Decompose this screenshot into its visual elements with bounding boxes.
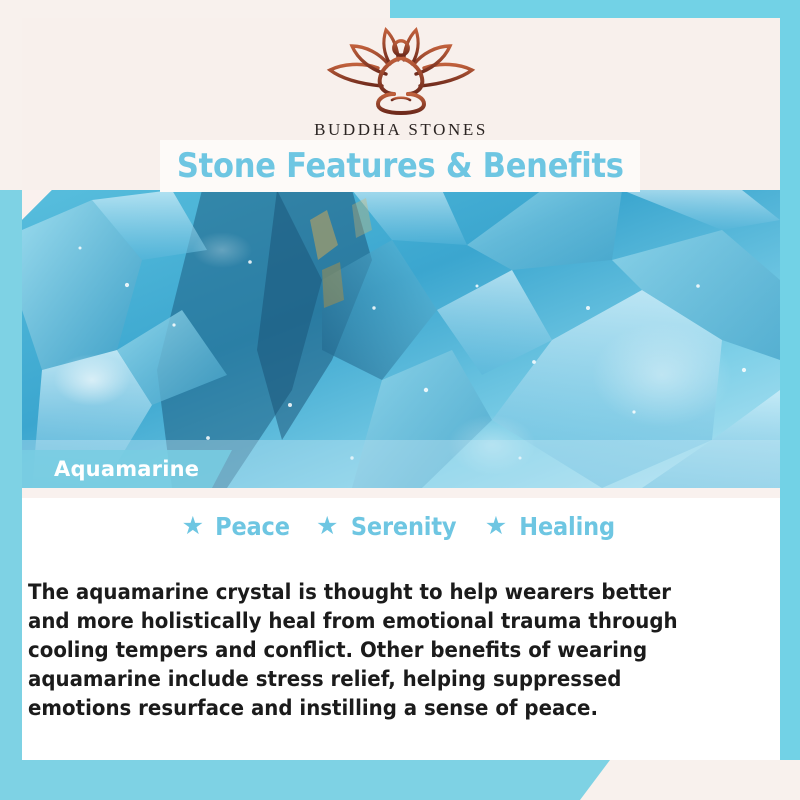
keyword-item-serenity: ★ Serenity	[316, 512, 463, 541]
stone-description: The aquamarine crystal is thought to hel…	[28, 578, 709, 723]
stone-name-label: Aquamarine	[54, 457, 199, 481]
star-icon: ★	[316, 514, 338, 539]
frame-left-bar	[0, 190, 22, 800]
brand-name: BUDDHA STONES	[314, 120, 488, 140]
frame-right-bar	[780, 0, 800, 760]
keyword-item-healing: ★ Healing	[485, 512, 621, 541]
infographic-card: BUDDHA STONES Stone Features & Benefits	[0, 0, 800, 800]
keyword-label: Serenity	[351, 512, 457, 541]
star-icon: ★	[182, 514, 204, 539]
frame-bottom-bar	[0, 760, 610, 800]
title-band: Stone Features & Benefits	[160, 140, 640, 192]
keyword-row: ★ Peace ★ Serenity ★ Healing	[22, 512, 780, 541]
stone-name-banner: Aquamarine	[22, 450, 232, 488]
page-title: Stone Features & Benefits	[177, 146, 624, 186]
lotus-meditation-icon	[326, 24, 476, 116]
keyword-label: Healing	[519, 512, 615, 541]
keyword-label: Peace	[215, 512, 290, 541]
star-icon: ★	[485, 514, 507, 539]
keyword-item-peace: ★ Peace	[182, 512, 294, 541]
frame-top-bar	[390, 0, 800, 18]
brand-logo: BUDDHA STONES	[314, 24, 488, 140]
aquamarine-crystal-photo	[22, 190, 780, 488]
